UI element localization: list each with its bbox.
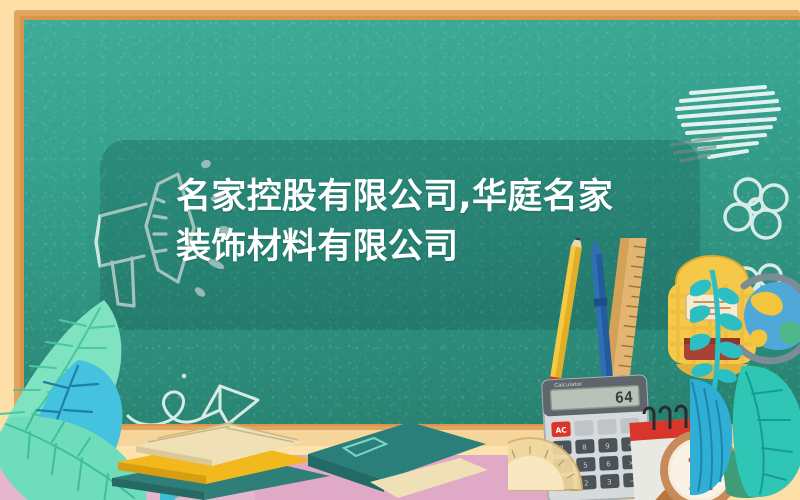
svg-text:8: 8 [582,443,587,451]
plant-icon [690,270,800,500]
svg-text:3: 3 [607,478,612,486]
pencil-icon [549,238,585,388]
svg-text:2: 2 [584,479,589,487]
pen-icon [589,238,615,384]
banner-canvas: 名家控股有限公司,华庭名家装饰材料有限公司 [0,0,800,500]
svg-text:AC: AC [555,425,567,435]
svg-text:9: 9 [605,442,610,450]
svg-text:5: 5 [583,461,588,469]
calculator-display: 64 [614,388,633,407]
globe-icon [740,277,800,361]
notebook-icon [300,418,490,500]
